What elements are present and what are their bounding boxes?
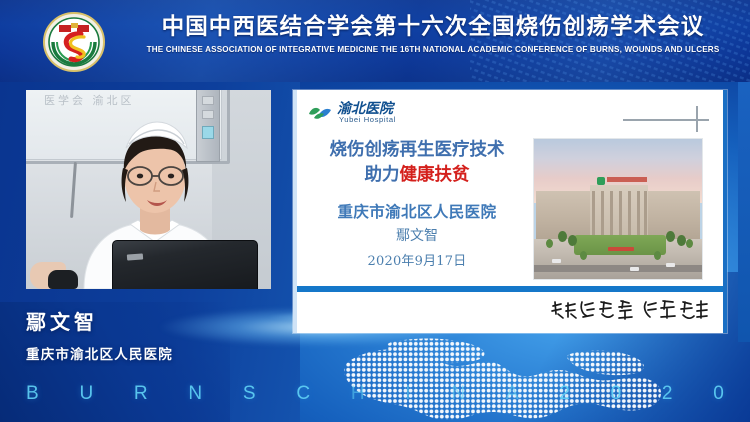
wordmark-letter: B — [26, 383, 39, 405]
wordmark-letter: N — [188, 383, 202, 405]
wordmark-letter: 2 — [662, 383, 673, 405]
slide-cross-decoration — [623, 106, 715, 132]
header-title-block: 中国中西医结合学会第十六次全国烧伤创疡学术会议 THE CHINESE ASSO… — [128, 12, 738, 54]
photo-sign-logo-icon — [597, 177, 605, 185]
computer-mouse — [48, 270, 78, 289]
hospital-logo-en: Yubei Hospital — [339, 115, 396, 124]
hospital-logo: 渝北医院 Yubei Hospital — [307, 98, 419, 128]
laptop — [112, 240, 258, 289]
conference-title-en: THE CHINESE ASSOCIATION OF INTEGRATIVE M… — [128, 45, 738, 54]
wordmark-letter: A — [506, 383, 519, 405]
laptop-logo — [127, 253, 143, 260]
wordmark-letter: 2 — [559, 383, 570, 405]
wordmark-letter: 0 — [611, 383, 622, 405]
wordmark-letter: S — [243, 383, 256, 405]
hospital-building-photo — [533, 138, 703, 280]
presentation-slide[interactable]: 渝北医院 Yubei Hospital 烧伤创疡再生医疗技术 助力健康扶贫 重庆… — [293, 90, 727, 333]
slide-title-line1: 烧伤创疡再生医疗技术 — [309, 138, 525, 163]
wordmark-letter: U — [79, 383, 93, 405]
slide-accent-bar — [297, 286, 723, 292]
photo-building-sign — [597, 177, 647, 185]
slide-title-highlight: 健康扶贫 — [400, 165, 470, 185]
hospital-logo-mark-icon — [307, 102, 333, 122]
photo-sign-text — [607, 177, 647, 182]
photo-lawn — [574, 235, 666, 255]
slide-date: 2020年9月17日 — [309, 249, 525, 274]
photo-flowerbed — [608, 247, 634, 251]
photo-road — [534, 265, 702, 272]
slide-right-edge — [723, 90, 727, 333]
slide-top-accent — [293, 90, 727, 93]
wordmark-letter: H — [351, 383, 365, 405]
wordmark-letter: N — [451, 383, 465, 405]
slide-organization: 重庆市渝北区人民医院 — [309, 200, 525, 224]
slide-title-prefix: 助力 — [365, 165, 400, 185]
world-map-halftone-icon — [330, 336, 750, 422]
slide-left-edge — [293, 90, 297, 333]
conference-title-cn: 中国中西医结合学会第十六次全国烧伤创疡学术会议 — [128, 12, 738, 42]
speaker-organization: 重庆市渝北区人民医院 — [26, 343, 296, 363]
stage-right-edge — [738, 82, 750, 342]
slide-calligraphy — [549, 298, 709, 324]
cross-vertical-line — [696, 106, 698, 132]
wordmark-letter: 0 — [713, 383, 724, 405]
slide-subtitle-block: 重庆市渝北区人民医院 鄢文智 2020年9月17日 — [309, 200, 525, 274]
slide-title: 烧伤创疡再生医疗技术 助力健康扶贫 — [309, 138, 525, 188]
slide-title-line2: 助力健康扶贫 — [309, 163, 525, 188]
slide-presenter: 鄢文智 — [309, 224, 525, 249]
photo-building-columns — [592, 191, 646, 235]
presentation-stage: 中国中西医结合学会第十六次全国烧伤创疡学术会议 THE CHINESE ASSO… — [0, 0, 750, 422]
speaker-video-panel[interactable]: 医学会 渝北区 — [26, 90, 271, 289]
wordmark-letter: R — [134, 383, 148, 405]
wordmark-letter: C — [296, 383, 310, 405]
speaker-caption: 鄢文智 重庆市渝北区人民医院 — [26, 306, 296, 363]
event-wordmark: B U R N S C H I N A 2 0 2 0 — [0, 381, 750, 407]
speaker-video-feed: 医学会 渝北区 — [26, 90, 271, 289]
speaker-name: 鄢文智 — [26, 306, 296, 335]
conference-header: 中国中西医结合学会第十六次全国烧伤创疡学术会议 THE CHINESE ASSO… — [0, 0, 750, 82]
wordmark-letter: I — [405, 383, 410, 405]
cacm-emblem-icon — [37, 12, 111, 72]
